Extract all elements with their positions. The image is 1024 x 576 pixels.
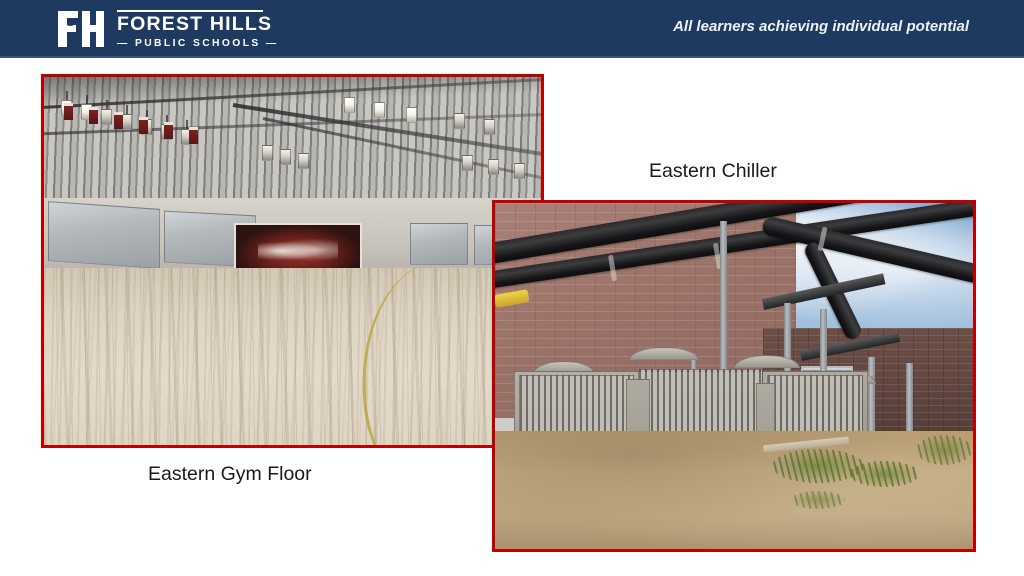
- brand-name: FOREST HILLS: [117, 15, 279, 35]
- brand-divider-rule: [117, 10, 263, 12]
- photo-eastern-gym-floor: [41, 74, 544, 448]
- gym-ceiling-light: [101, 109, 112, 125]
- chiller-grass-patch: [849, 461, 919, 487]
- caption-eastern-gym-floor: Eastern Gym Floor: [148, 463, 312, 486]
- caption-eastern-chiller: Eastern Chiller: [649, 160, 777, 183]
- chiller-grass-patch: [916, 435, 972, 465]
- gym-light-stem: [86, 95, 88, 104]
- gym-ceiling-light: [462, 155, 473, 171]
- brand-subtitle: — PUBLIC SCHOOLS —: [117, 38, 279, 49]
- gym-upper-window: [48, 201, 160, 269]
- chiller-photo-scene: [495, 203, 973, 549]
- gym-hanging-banner: [164, 122, 173, 139]
- gym-hanging-banner: [139, 117, 148, 134]
- slide-root: FOREST HILLS — PUBLIC SCHOOLS — All lear…: [0, 0, 1024, 576]
- gym-ceiling-light: [514, 163, 525, 179]
- gym-hanging-banner: [189, 127, 198, 144]
- district-tagline: All learners achieving individual potent…: [673, 18, 969, 35]
- gym-ceiling-light: [298, 153, 309, 169]
- gym-ceiling-light: [488, 159, 499, 175]
- gym-ceiling-light: [374, 102, 385, 118]
- chiller-grass-patch: [791, 491, 845, 509]
- gym-ceiling-light: [484, 119, 495, 135]
- gym-wood-floor: [44, 268, 541, 445]
- brand-logo: FOREST HILLS — PUBLIC SCHOOLS —: [56, 8, 279, 50]
- gym-ceiling-light: [406, 107, 417, 123]
- gym-light-stem: [106, 100, 108, 109]
- chiller-dirt-ground: [495, 431, 973, 549]
- fh-monogram-icon: [56, 9, 104, 49]
- gym-ceiling-light: [344, 97, 355, 113]
- gym-photo-scene: [44, 77, 541, 445]
- gym-ceiling-light: [262, 145, 273, 161]
- gym-ceiling-light: [454, 113, 465, 129]
- gym-hanging-banner: [114, 112, 123, 129]
- gym-ceiling-light: [280, 149, 291, 165]
- gym-hanging-banner: [64, 103, 73, 120]
- gym-light-stem: [186, 120, 188, 129]
- gym-hanging-banner: [89, 107, 98, 124]
- brand-wordmark: FOREST HILLS — PUBLIC SCHOOLS —: [117, 9, 279, 49]
- gym-light-stem: [66, 91, 68, 100]
- photo-eastern-chiller: [492, 200, 976, 552]
- gym-light-stem: [126, 105, 128, 114]
- header-bar: FOREST HILLS — PUBLIC SCHOOLS — All lear…: [0, 0, 1024, 58]
